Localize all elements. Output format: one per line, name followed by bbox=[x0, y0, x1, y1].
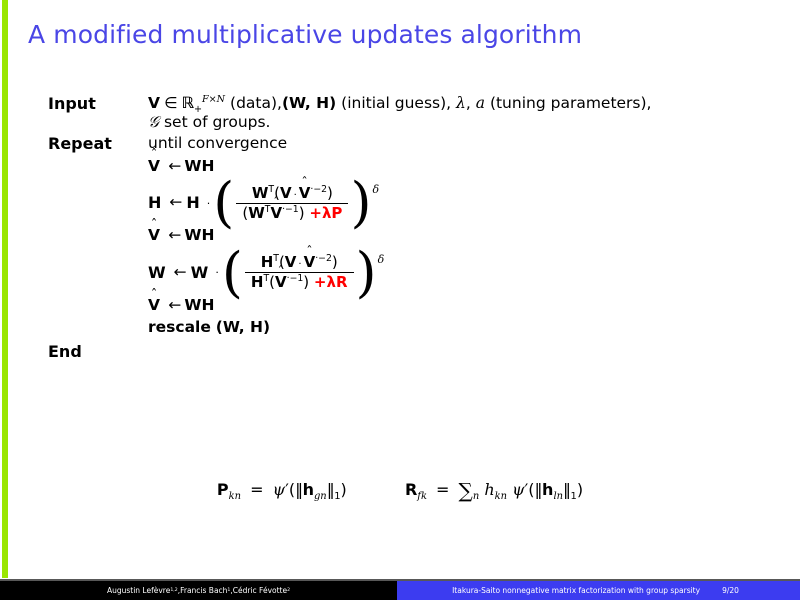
den-v-hat: ˆV bbox=[275, 275, 287, 290]
symbol-element-of: ∈ bbox=[164, 94, 178, 112]
footer-authors: Augustin Lefèvre1,2, Francis Bach1, Cédr… bbox=[0, 581, 397, 600]
equation-w-update: W ← W · ( HT(V·ˆV·−2) HT(ˆV·−1) +λR ) δ bbox=[148, 252, 778, 294]
paren-close-h: ) bbox=[350, 182, 371, 224]
algorithm-input-line-2: 𝒢 set of groups. bbox=[148, 115, 778, 131]
p-h: h bbox=[303, 480, 314, 499]
num-v-hat-exp: ·−2 bbox=[310, 184, 327, 195]
h-update-numerator: WT(V·ˆV·−2) bbox=[246, 186, 339, 203]
hat-accent-icon: ˆ bbox=[273, 197, 279, 210]
num-dot-icon: · bbox=[298, 259, 301, 270]
num-v: V bbox=[280, 184, 292, 202]
den-v-hat-exp: ·−1 bbox=[282, 204, 299, 215]
h-update-rhs-var: H bbox=[186, 195, 199, 211]
r-h-factor-subscript: kn bbox=[495, 491, 507, 502]
equation-p: Pkn = ψ′(‖hgn‖1) bbox=[217, 480, 352, 499]
symbol-v-hat: ˆV bbox=[148, 159, 160, 175]
algorithm-label-input: Input bbox=[48, 96, 148, 112]
footer-bar: Augustin Lefèvre1,2, Francis Bach1, Cédr… bbox=[0, 581, 800, 600]
hat-accent-icon: ˆ bbox=[151, 219, 158, 232]
w-update-rhs-var: W bbox=[191, 265, 209, 281]
h-update-fraction: WT(V·ˆV·−2) (WTˆV·−1) +λP bbox=[236, 186, 348, 221]
symbol-v-hat: ˆV bbox=[148, 228, 160, 244]
symbol-v-hat: ˆV bbox=[148, 298, 160, 314]
algorithm-row-repeat: Repeat until convergence ˆV ←WH H ← H · … bbox=[48, 136, 778, 336]
h-update-denominator: (WTˆV·−1) +λP bbox=[236, 203, 348, 221]
algorithm-row-input: Input V∈ℝ+F×N (data),(W, H) (initial gue… bbox=[48, 96, 778, 130]
algorithm-line-rescale: rescale (W, H) bbox=[148, 320, 778, 336]
num-w: W bbox=[252, 184, 269, 202]
hat-accent-icon: ˆ bbox=[278, 266, 284, 279]
den-close: ) bbox=[299, 204, 305, 222]
p-h-subscript: gn bbox=[314, 491, 327, 502]
r-close: ) bbox=[577, 480, 583, 499]
p-lhs-subscript: kn bbox=[229, 491, 241, 502]
hat-accent-icon: ˆ bbox=[306, 246, 312, 259]
p-equals: = bbox=[250, 480, 263, 499]
den-v-hat-exp: ·−1 bbox=[287, 273, 304, 284]
symbol-wh-pair: (W, H) bbox=[282, 94, 336, 112]
symbol-a: a bbox=[476, 94, 485, 112]
num-v: V bbox=[285, 253, 297, 271]
num-v-hat-exp: ·−2 bbox=[315, 253, 332, 264]
label-initial-guess: (initial guess), bbox=[341, 94, 451, 112]
r-summation-icon: ∑ bbox=[459, 478, 473, 502]
r-norm-open: ‖ bbox=[535, 480, 543, 499]
r-equals: = bbox=[436, 480, 449, 499]
symbol-v: V bbox=[148, 94, 160, 112]
p-lhs: P bbox=[217, 480, 229, 499]
h-update-arrow-icon: ← bbox=[169, 195, 182, 211]
den-red-penalty-term: +λP bbox=[309, 204, 342, 222]
den-v-hat: ˆV bbox=[270, 206, 282, 221]
arrow-assign-icon: ← bbox=[168, 296, 181, 314]
num-close: ) bbox=[332, 253, 338, 271]
algorithm-input-body: V∈ℝ+F×N (data),(W, H) (initial guess), λ… bbox=[148, 96, 778, 130]
w-update-dot-icon: · bbox=[215, 267, 219, 278]
symbol-wh: WH bbox=[184, 157, 214, 175]
p-norm-open: ‖ bbox=[295, 480, 303, 499]
footer-subject-text: Itakura-Saito nonnegative matrix factori… bbox=[452, 586, 700, 595]
num-v-hat: ˆV bbox=[299, 186, 311, 201]
bottom-equations: Pkn = ψ′(‖hgn‖1) Rfk = ∑n hkn ψ′(‖hln‖1) bbox=[0, 478, 800, 502]
author-3: Cédric Févotte bbox=[233, 586, 287, 595]
arrow-assign-icon: ← bbox=[168, 157, 181, 175]
page-title: A modified multiplicative updates algori… bbox=[28, 20, 582, 49]
num-v-hat: ˆV bbox=[304, 255, 316, 270]
equation-h-update: H ← H · ( WT(V·ˆV·−2) (WTˆV·−1) +λP ) δ bbox=[148, 182, 778, 224]
h-update-lhs: H bbox=[148, 195, 161, 211]
paren-open-h: ( bbox=[213, 182, 234, 224]
algorithm-label-repeat: Repeat bbox=[48, 136, 148, 152]
arrow-assign-icon: ← bbox=[168, 226, 181, 244]
r-lhs-subscript: fk bbox=[417, 491, 427, 502]
den-red-penalty-term: +λR bbox=[314, 273, 348, 291]
paren-close-w: ) bbox=[356, 252, 377, 294]
algorithm-line-until-convergence: until convergence bbox=[148, 136, 778, 152]
hat-accent-icon: ˆ bbox=[151, 149, 158, 162]
r-sum-subscript: n bbox=[473, 491, 479, 502]
r-lhs: R bbox=[405, 480, 417, 499]
num-dot-icon: · bbox=[294, 190, 297, 201]
symbol-dims: F×N bbox=[202, 94, 225, 105]
p-close: ) bbox=[341, 480, 347, 499]
comma-2: , bbox=[466, 94, 471, 112]
symbol-lambda: λ bbox=[456, 94, 466, 112]
algorithm-line-vhat-update-1: ˆV ←WH bbox=[148, 159, 778, 175]
w-update-exponent-delta: δ bbox=[378, 254, 385, 265]
w-update-lhs: W bbox=[148, 265, 166, 281]
algorithm-input-line-1: V∈ℝ+F×N (data),(W, H) (initial guess), λ… bbox=[148, 96, 778, 112]
paren-open-w: ( bbox=[222, 252, 243, 294]
algorithm-repeat-body: until convergence ˆV ←WH H ← H · ( WT(V·… bbox=[148, 136, 778, 336]
num-close: ) bbox=[327, 184, 333, 202]
footer-page-number: 9/20 bbox=[722, 586, 739, 595]
label-tuning-parameters: (tuning parameters), bbox=[490, 94, 652, 112]
den-close: ) bbox=[303, 273, 309, 291]
symbol-wh: WH bbox=[184, 296, 214, 314]
author-1: Augustin Lefèvre bbox=[107, 586, 170, 595]
symbol-cal-g: 𝒢 bbox=[148, 113, 159, 131]
r-h-subscript: ln bbox=[553, 491, 563, 502]
r-h-factor: h bbox=[484, 480, 494, 499]
algorithm-row-end: End bbox=[48, 344, 778, 360]
r-h: h bbox=[542, 480, 553, 499]
r-psi: ψ bbox=[512, 480, 525, 499]
algorithm-block: Input V∈ℝ+F×N (data),(W, H) (initial gue… bbox=[48, 96, 778, 360]
algorithm-label-end: End bbox=[48, 344, 148, 360]
label-set-of-groups: set of groups. bbox=[164, 113, 271, 131]
p-psi: ψ bbox=[273, 480, 286, 499]
h-update-exponent-delta: δ bbox=[373, 184, 380, 195]
h-update-dot-icon: · bbox=[207, 198, 211, 209]
symbol-wh: WH bbox=[184, 226, 214, 244]
author-2: Francis Bach bbox=[180, 586, 227, 595]
w-update-denominator: HT(ˆV·−1) +λR bbox=[245, 272, 354, 290]
hat-accent-icon: ˆ bbox=[151, 289, 158, 302]
equation-r: Rfk = ∑n hkn ψ′(‖hln‖1) bbox=[405, 480, 583, 499]
num-h: H bbox=[261, 253, 274, 271]
w-update-arrow-icon: ← bbox=[174, 265, 187, 281]
w-update-fraction: HT(V·ˆV·−2) HT(ˆV·−1) +λR bbox=[245, 255, 354, 290]
w-update-numerator: HT(V·ˆV·−2) bbox=[255, 255, 344, 272]
label-data: (data) bbox=[230, 94, 277, 112]
symbol-reals: ℝ bbox=[182, 94, 194, 112]
rescale-keyword: rescale bbox=[148, 318, 211, 336]
r-norm-close: ‖ bbox=[563, 480, 571, 499]
hat-accent-icon: ˆ bbox=[301, 177, 307, 190]
rescale-args: (W, H) bbox=[216, 318, 270, 336]
footer-subject-area: Itakura-Saito nonnegative matrix factori… bbox=[397, 581, 800, 600]
den-w: W bbox=[248, 204, 265, 222]
den-h: H bbox=[251, 273, 264, 291]
